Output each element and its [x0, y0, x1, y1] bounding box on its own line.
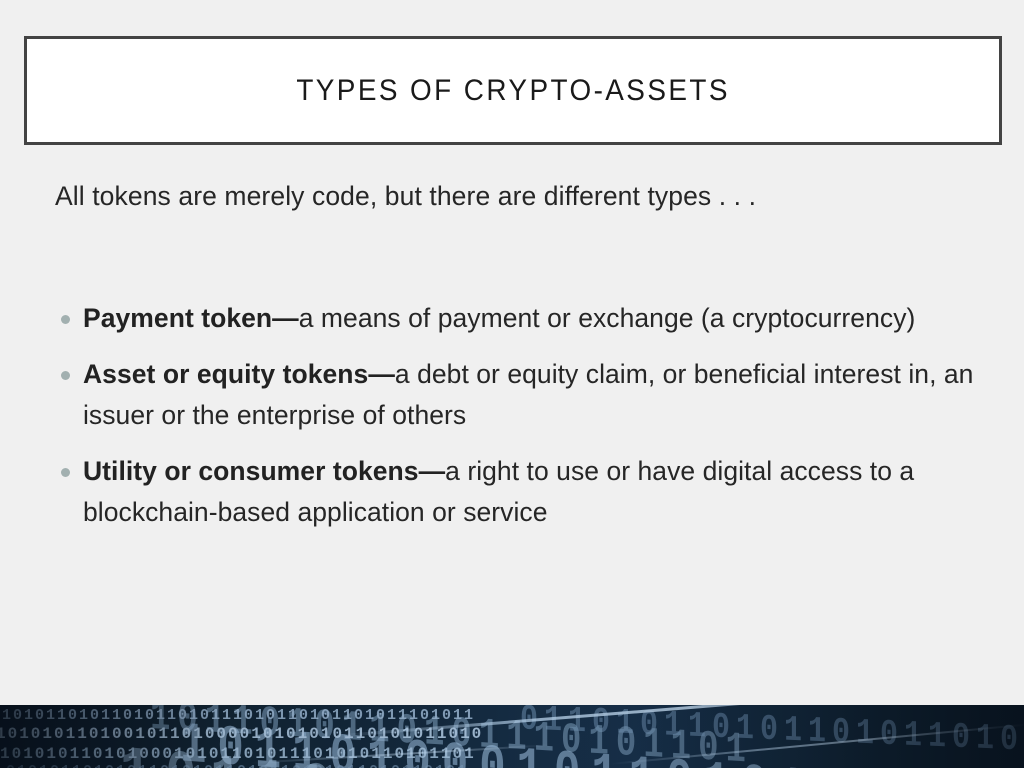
bullet-dot-icon — [61, 371, 70, 380]
list-item: Payment token—a means of payment or exch… — [0, 298, 1000, 339]
lead-paragraph: All tokens are merely code, but there ar… — [55, 176, 756, 216]
list-item: Asset or equity tokens—a debt or equity … — [0, 354, 1000, 436]
list-item-term: Utility or consumer tokens— — [83, 456, 445, 486]
bullet-dot-icon — [61, 468, 70, 477]
banner-digit-row: 0101011010101101010110101101010110101101… — [6, 763, 468, 768]
list-item-description: a means of payment or exchange (a crypto… — [299, 303, 916, 333]
binary-code-banner: 1011010110101110101101 10110100010110101… — [0, 705, 1024, 768]
token-types-list: Payment token—a means of payment or exch… — [0, 298, 1000, 533]
list-item-term: Payment token— — [83, 303, 299, 333]
bullet-dot-icon — [61, 315, 70, 324]
slide-title-box: Types of Crypto-Assets — [24, 36, 1002, 145]
list-item: Utility or consumer tokens—a right to us… — [0, 451, 1000, 533]
banner-digit-row: 1010110101101011010111010110101101011101… — [2, 707, 475, 724]
slide: Types of Crypto-Assets All tokens are me… — [0, 0, 1024, 768]
page-title: Types of Crypto-Assets — [296, 76, 730, 106]
list-item-term: Asset or equity tokens— — [83, 359, 395, 389]
